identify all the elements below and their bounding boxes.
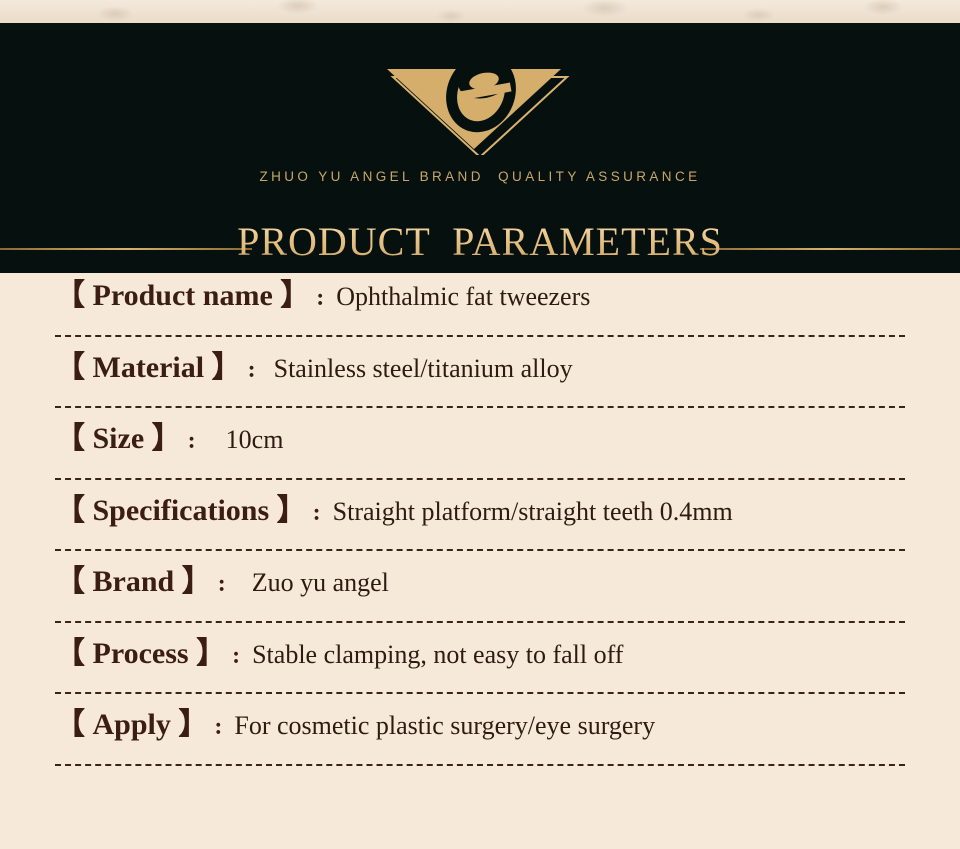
row-divider: [55, 692, 905, 694]
triangle-e-logo-icon: [385, 47, 575, 155]
parameter-list: 【 Product name 】 : Ophthalmic fat tweeze…: [0, 273, 960, 774]
row-divider: [55, 406, 905, 408]
parameter-label: 【 Size 】: [55, 424, 182, 454]
row-divider: [55, 478, 905, 480]
parameter-label: 【 Brand 】: [55, 567, 212, 597]
parameter-row: 【 Product name 】 : Ophthalmic fat tweeze…: [0, 273, 960, 345]
parameters-body: 【 Product name 】 : Ophthalmic fat tweeze…: [0, 273, 960, 849]
parameter-value: 10cm: [200, 427, 284, 453]
product-parameters-page: ZHUO YU ANGEL BRAND QUALITY ASSURANCE PR…: [0, 0, 960, 849]
parameter-separator: :: [226, 644, 244, 668]
parameter-row: 【 Material 】 : Stainless steel/titanium …: [0, 345, 960, 417]
textured-top-strip: [0, 0, 960, 23]
parameter-separator: :: [310, 286, 328, 310]
page-title: PRODUCT PARAMETERS: [0, 215, 960, 269]
parameter-separator: :: [208, 715, 226, 739]
parameter-label: 【 Product name 】: [55, 281, 310, 311]
header-banner: ZHUO YU ANGEL BRAND QUALITY ASSURANCE PR…: [0, 23, 960, 273]
parameter-row: 【 Apply 】 : For cosmetic plastic surgery…: [0, 702, 960, 774]
title-row: PRODUCT PARAMETERS: [0, 215, 960, 273]
parameter-value: Straight platform/straight teeth 0.4mm: [325, 499, 733, 525]
parameter-value: Zuo yu angel: [230, 570, 389, 596]
parameter-separator: :: [242, 358, 260, 382]
brand-tagline: ZHUO YU ANGEL BRAND QUALITY ASSURANCE: [0, 169, 960, 184]
row-divider: [55, 764, 905, 766]
parameter-value: Stainless steel/titanium alloy: [260, 356, 573, 382]
parameter-value: For cosmetic plastic surgery/eye surgery: [226, 713, 655, 739]
parameter-label: 【 Material 】: [55, 353, 242, 383]
parameter-row: 【 Specifications 】 : Straight platform/s…: [0, 488, 960, 560]
parameter-value: Ophthalmic fat tweezers: [328, 284, 590, 310]
parameter-row: 【 Brand 】 : Zuo yu angel: [0, 559, 960, 631]
parameter-label: 【 Specifications 】: [55, 496, 307, 526]
parameter-separator: :: [212, 572, 230, 596]
parameter-value: Stable clamping, not easy to fall off: [244, 642, 623, 668]
parameter-label: 【 Apply 】: [55, 710, 208, 740]
row-divider: [55, 335, 905, 337]
parameter-label: 【 Process 】: [55, 639, 226, 669]
parameter-row: 【 Process 】 : Stable clamping, not easy …: [0, 631, 960, 703]
parameter-row: 【 Size 】 : 10cm: [0, 416, 960, 488]
row-divider: [55, 549, 905, 551]
brand-logo: [0, 47, 960, 157]
parameter-separator: :: [182, 429, 200, 453]
row-divider: [55, 621, 905, 623]
parameter-separator: :: [307, 501, 325, 525]
